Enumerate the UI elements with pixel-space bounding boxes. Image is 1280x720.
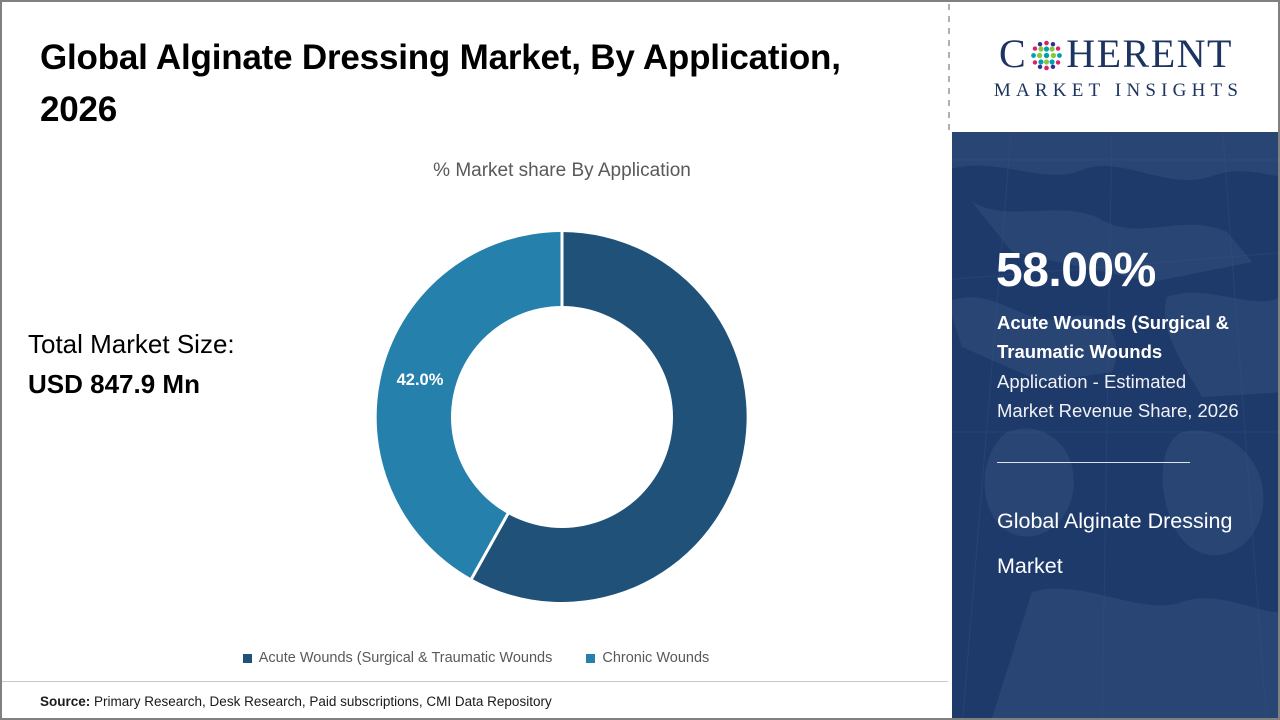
brand-logo[interactable]: C xyxy=(952,4,1280,132)
source-label: Source: xyxy=(40,694,90,709)
chart-subtitle: % Market share By Application xyxy=(162,160,962,182)
right-sidebar: C xyxy=(952,2,1280,718)
vertical-dashed-divider xyxy=(948,4,950,134)
source-divider xyxy=(2,681,948,682)
highlight-panel: 58.00% Acute Wounds (Surgical & Traumati… xyxy=(952,132,1280,718)
legend-swatch-chronic-wounds xyxy=(586,654,595,663)
highlight-divider xyxy=(997,462,1190,463)
legend-swatch-acute-wounds xyxy=(243,654,252,663)
source-note: Source: Primary Research, Desk Research,… xyxy=(40,694,552,709)
donut-label-acute-wounds: 58.0% xyxy=(582,456,629,474)
report-infographic: Global Alginate Dressing Market, By Appl… xyxy=(0,0,1280,720)
donut-chart-svg: 58.0% 42.0% xyxy=(375,230,749,604)
legend-label-acute-wounds: Acute Wounds (Surgical & Traumatic Wound… xyxy=(259,650,553,666)
brand-wordmark: C xyxy=(999,34,1233,74)
highlight-headline: Acute Wounds (Surgical & Traumatic Wound… xyxy=(997,309,1269,367)
highlight-percentage: 58.00% xyxy=(996,247,1156,295)
brand-name-part2: HERENT xyxy=(1066,34,1233,74)
total-market-size-label: Total Market Size: xyxy=(28,324,235,364)
legend-item-chronic-wounds[interactable]: Chronic Wounds xyxy=(586,650,709,666)
main-content-area: Global Alginate Dressing Market, By Appl… xyxy=(2,2,950,718)
donut-hole xyxy=(451,306,673,528)
source-text: Primary Research, Desk Research, Paid su… xyxy=(94,694,552,709)
globe-dots-icon xyxy=(1028,37,1065,74)
brand-tagline: MARKET INSIGHTS xyxy=(989,80,1243,102)
donut-chart: 58.0% 42.0% xyxy=(375,230,749,604)
brand-name-part1: C xyxy=(999,34,1027,74)
page-title: Global Alginate Dressing Market, By Appl… xyxy=(40,32,920,136)
highlight-subline: Application - Estimated Market Revenue S… xyxy=(997,368,1247,426)
total-market-size-block: Total Market Size: USD 847.9 Mn xyxy=(28,324,235,405)
legend-label-chronic-wounds: Chronic Wounds xyxy=(602,650,709,666)
chart-legend: Acute Wounds (Surgical & Traumatic Wound… xyxy=(2,650,950,666)
legend-item-acute-wounds[interactable]: Acute Wounds (Surgical & Traumatic Wound… xyxy=(243,650,553,666)
highlight-market-name: Global Alginate Dressing Market xyxy=(997,499,1252,588)
donut-label-chronic-wounds: 42.0% xyxy=(397,371,444,389)
total-market-size-value: USD 847.9 Mn xyxy=(28,364,235,404)
